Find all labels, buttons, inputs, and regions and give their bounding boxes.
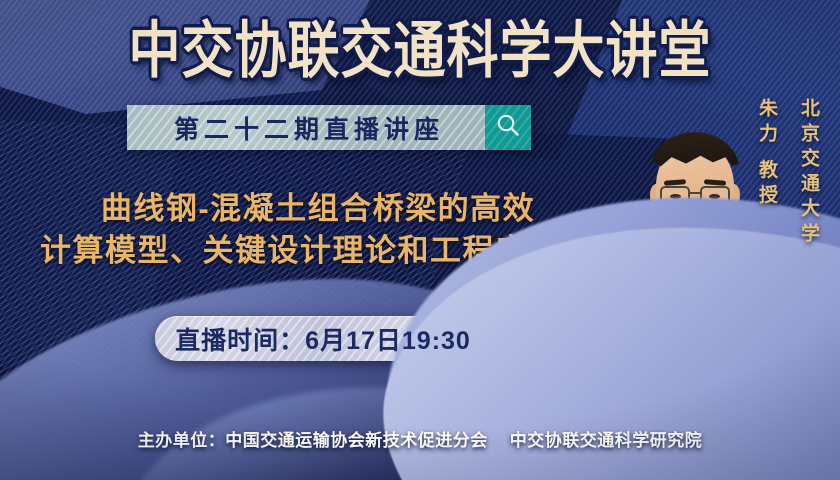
lecture-title-line1: 曲线钢-混凝土组合桥梁的高效: [0, 188, 600, 230]
lecture-title: 曲线钢-混凝土组合桥梁的高效 计算模型、关键设计理论和工程应用: [0, 188, 600, 272]
lecture-title-line2: 计算模型、关键设计理论和工程应用: [0, 230, 600, 272]
portrait-mouth: [681, 230, 709, 235]
episode-label-container: 第二十二期直播讲座: [127, 105, 485, 150]
live-lecture-poster: 中交协联交通科学大讲堂 第二十二期直播讲座 曲线钢-混凝土组合桥梁的高效 计算模…: [0, 0, 840, 480]
organizer-primary: 主办单位：中国交通运输协会新技术促进分会: [138, 431, 488, 450]
portrait-glasses-left-lens: [660, 186, 690, 208]
episode-banner[interactable]: 第二十二期直播讲座: [127, 105, 531, 150]
portrait-nose: [690, 208, 700, 222]
speaker-name: 朱力 教授: [753, 98, 780, 209]
organizers-footer: 主办单位：中国交通运输协会新技术促进分会中交协联交通科学研究院: [0, 426, 840, 451]
portrait-glasses-bridge: [689, 192, 701, 194]
page-title: 中交协联交通科学大讲堂: [0, 16, 840, 87]
portrait-glasses-right-lens: [700, 186, 730, 208]
broadcast-time-badge: 直播时间：6月17日19:30: [155, 316, 491, 361]
search-icon: [495, 112, 521, 143]
speaker-organization: 北京交通大学: [795, 98, 822, 248]
broadcast-time-label: 直播时间：6月17日19:30: [175, 321, 471, 357]
organizer-secondary: 中交协联交通科学研究院: [510, 431, 703, 450]
search-button[interactable]: [485, 105, 531, 150]
episode-label: 第二十二期直播讲座: [174, 110, 444, 146]
